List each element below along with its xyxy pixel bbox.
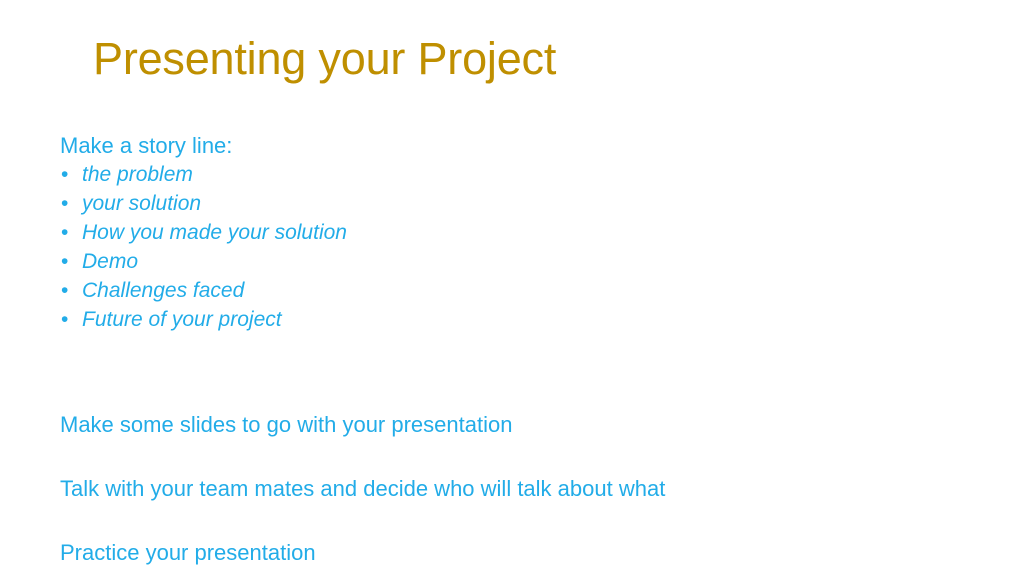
list-item-label: How you made your solution	[82, 221, 347, 244]
list-item: • Future of your project	[60, 305, 960, 334]
list-item-label: Future of your project	[82, 308, 282, 331]
list-item: • your solution	[60, 189, 960, 218]
bullet-dot-icon: •	[61, 160, 68, 189]
list-item: • Challenges faced	[60, 276, 960, 305]
list-item-label: Demo	[82, 250, 138, 273]
page-title: Presenting your Project	[93, 32, 953, 86]
list-item-label: the problem	[82, 163, 193, 186]
instruction-line-practice: Practice your presentation	[60, 538, 960, 567]
bullet-dot-icon: •	[61, 247, 68, 276]
story-line-block: Make a story line: • the problem • your …	[60, 131, 960, 334]
presentation-slide: Presenting your Project Make a story lin…	[0, 0, 1024, 576]
bullet-dot-icon: •	[61, 218, 68, 247]
list-item-label: your solution	[82, 192, 201, 215]
list-item-label: Challenges faced	[82, 279, 244, 302]
instruction-line-team: Talk with your team mates and decide who…	[60, 474, 960, 503]
bullet-dot-icon: •	[61, 305, 68, 334]
instruction-line-slides: Make some slides to go with your present…	[60, 410, 960, 439]
instructions-block: Make some slides to go with your present…	[60, 375, 960, 567]
story-line-bullet-list: • the problem • your solution • How you …	[60, 160, 960, 334]
list-item: • Demo	[60, 247, 960, 276]
spacer	[60, 503, 960, 538]
list-item: • How you made your solution	[60, 218, 960, 247]
story-line-heading: Make a story line:	[60, 131, 960, 160]
bullet-dot-icon: •	[61, 276, 68, 305]
list-item: • the problem	[60, 160, 960, 189]
spacer	[60, 375, 960, 410]
spacer	[60, 439, 960, 474]
bullet-dot-icon: •	[61, 189, 68, 218]
